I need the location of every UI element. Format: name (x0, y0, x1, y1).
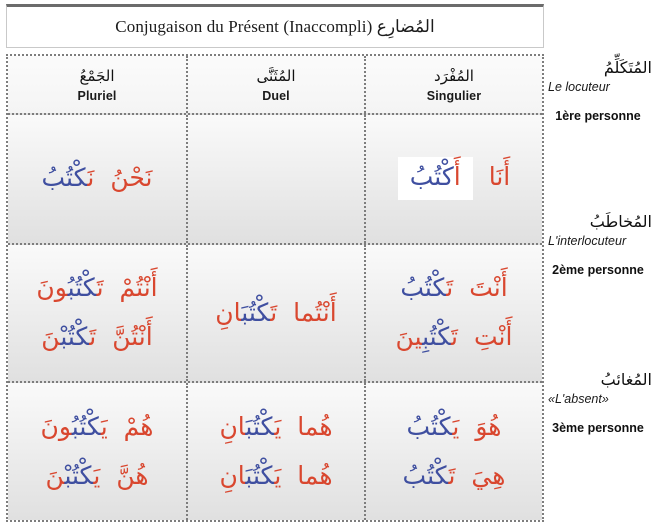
conjugation-line: هُمْيَكْتُبُونَ (41, 408, 154, 447)
person-legend-third: المُغائبُ «L'absent» 3ème personne (548, 370, 652, 435)
conjugation-grid: الجَمْعُ Pluriel المُثَنَّى Duel المُفْر… (6, 54, 544, 522)
pronoun: هِيَ (471, 457, 505, 496)
verb-form: تَكْتُبُ (403, 457, 456, 496)
conjugation-line: أَنَاأَكْتُبُ (398, 157, 510, 200)
verb-prefix: أَ (454, 162, 461, 191)
verb-form: يَكْتُبَانِ (219, 408, 281, 447)
conjugation-line: هُوَيَكْتُبُ (407, 408, 502, 447)
verb-prefix: نَ (87, 163, 94, 192)
title-bar: Conjugaison du Présent (Inaccompli) المُ… (6, 4, 544, 48)
verb-root: كْتُبْ (64, 461, 93, 490)
column-header-arabic: المُفْرَد (434, 66, 474, 86)
verb-root: كْتُبَ (241, 298, 270, 327)
column-header-arabic: المُثَنَّى (257, 66, 296, 86)
column-header-french: Pluriel (78, 89, 117, 103)
person-ordinal: 1ère personne (548, 109, 652, 123)
verb-suffix: ينَ (396, 322, 423, 351)
verb-prefix: يَ (93, 461, 100, 490)
pronoun: أَنْتُما (293, 294, 337, 333)
cell-singular-third-person: هُوَيَكْتُبُهِيَتَكْتُبُ (364, 383, 542, 520)
verb-prefix: يَ (274, 461, 281, 490)
verb-form: يَكْتُبُ (407, 408, 460, 447)
pronoun: أَنْتُنَّ (112, 318, 152, 357)
pronoun: أَنَا (489, 158, 511, 197)
verb-root: كْتُبَ (245, 461, 274, 490)
verb-prefix: تَ (448, 461, 455, 490)
verb-form: تَكْتُبْنَ (41, 318, 96, 357)
verb-suffix: انِ (219, 412, 245, 441)
verb-prefix: تَ (451, 322, 458, 351)
highlighted-verb-box: أَكْتُبُ (398, 157, 473, 200)
verb-prefix: يَ (274, 412, 281, 441)
conjugation-line: أَنْتُنَّتَكْتُبْنَ (41, 318, 152, 357)
verb-root: كْتُبُ (403, 461, 449, 490)
verb-suffix: ونَ (36, 273, 67, 302)
conjugation-line: أَنْتُمْتَكْتُبُونَ (36, 269, 157, 308)
person-ordinal: 2ème personne (548, 263, 652, 277)
person-arabic: المُخاطَبُ (548, 212, 652, 233)
person-french: «L'absent» (548, 392, 652, 408)
person-legend-column: المُتَكَلِّمُ Le locuteur 1ère personne … (548, 54, 652, 522)
conjugation-line: أَنْتَتَكْتُبُ (400, 269, 507, 308)
cell-plural-second-person: أَنْتُمْتَكْتُبُونَأَنْتُنَّتَكْتُبْنَ (8, 245, 186, 382)
person-french: Le locuteur (548, 80, 652, 96)
cell-dual-second-person: أَنْتُماتَكْتُبَانِ (186, 245, 364, 382)
cell-dual-first-person (186, 115, 364, 243)
verb-form: أَكْتُبُ (410, 162, 461, 191)
verb-form: تَكْتُبُونَ (36, 269, 103, 308)
pronoun: أَنْتُمْ (120, 269, 158, 308)
verb-suffix: نَ (41, 322, 60, 351)
conjugation-line: أَنْتُماتَكْتُبَانِ (215, 294, 336, 333)
conjugation-line: أَنْتِتَكْتُبِينَ (396, 318, 513, 357)
verb-suffix: انِ (219, 461, 245, 490)
column-header-french: Duel (262, 89, 290, 103)
verb-root: كْتُبَ (245, 412, 274, 441)
verb-prefix: تَ (270, 298, 277, 327)
verb-form: يَكْتُبَانِ (219, 457, 281, 496)
pronoun: أَنْتِ (474, 318, 512, 357)
conjugation-line: هُنَّيَكْتُبْنَ (45, 457, 148, 496)
verb-root: كْتُبْ (60, 322, 89, 351)
pronoun: هُنَّ (116, 457, 148, 496)
verb-form: تَكْتُبَانِ (215, 294, 277, 333)
conjugation-table-page: Conjugaison du Présent (Inaccompli) المُ… (0, 0, 654, 529)
pronoun: نَحْنُ (110, 159, 152, 198)
verb-root: كْتُبِ (422, 322, 451, 351)
verb-root: كْتُبُ (41, 163, 87, 192)
grid-row-first-person: نَحْنُنَكْتُبُ أَنَاأَكْتُبُ (8, 113, 542, 243)
cell-plural-first-person: نَحْنُنَكْتُبُ (8, 115, 186, 243)
grid-row-third-person: هُمْيَكْتُبُونَهُنَّيَكْتُبْنَ هُمايَكْت… (8, 381, 542, 520)
pronoun: هُما (297, 457, 332, 496)
column-header-singulier: المُفْرَد Singulier (364, 56, 542, 113)
verb-prefix: تَ (97, 273, 104, 302)
column-header-pluriel: الجَمْعُ Pluriel (8, 56, 186, 113)
verb-prefix: يَ (452, 412, 459, 441)
verb-root: كْتُبُ (410, 162, 454, 191)
verb-prefix: تَ (446, 273, 453, 302)
pronoun: أَنْتَ (469, 269, 507, 308)
pronoun: هُمْ (124, 408, 154, 447)
person-legend-first: المُتَكَلِّمُ Le locuteur 1ère personne (548, 58, 652, 123)
person-arabic: المُتَكَلِّمُ (548, 58, 652, 79)
person-ordinal: 3ème personne (548, 421, 652, 435)
verb-root: كْتُبُ (400, 273, 446, 302)
cell-singular-first-person: أَنَاأَكْتُبُ (364, 115, 542, 243)
conjugation-line: هُمايَكْتُبَانِ (219, 408, 332, 447)
verb-root: كْتُبُ (72, 412, 101, 441)
column-header-duel: المُثَنَّى Duel (186, 56, 364, 113)
column-header-arabic: الجَمْعُ (79, 66, 114, 86)
verb-prefix: تَ (89, 322, 96, 351)
verb-form: تَكْتُبُ (400, 269, 453, 308)
cell-singular-second-person: أَنْتَتَكْتُبُأَنْتِتَكْتُبِينَ (364, 245, 542, 382)
verb-form: تَكْتُبِينَ (396, 318, 458, 357)
column-header-french: Singulier (427, 89, 481, 103)
conjugation-line: هُمايَكْتُبَانِ (219, 457, 332, 496)
pronoun: هُما (297, 408, 332, 447)
grid-row-second-person: أَنْتُمْتَكْتُبُونَأَنْتُنَّتَكْتُبْنَ أ… (8, 243, 542, 382)
verb-root: كْتُبُ (68, 273, 97, 302)
verb-root: كْتُبُ (407, 412, 453, 441)
conjugation-line: نَحْنُنَكْتُبُ (41, 159, 152, 198)
verb-suffix: انِ (215, 298, 241, 327)
cell-plural-third-person: هُمْيَكْتُبُونَهُنَّيَكْتُبْنَ (8, 383, 186, 520)
conjugation-line: هِيَتَكْتُبُ (403, 457, 506, 496)
person-arabic: المُغائبُ (548, 370, 652, 391)
pronoun: هُوَ (475, 408, 501, 447)
verb-suffix: ونَ (41, 412, 72, 441)
verb-prefix: يَ (101, 412, 108, 441)
page-title: Conjugaison du Présent (Inaccompli) المُ… (115, 17, 434, 37)
person-legend-second: المُخاطَبُ L'interlocuteur 2ème personne (548, 212, 652, 277)
verb-form: يَكْتُبْنَ (45, 457, 100, 496)
verb-form: يَكْتُبُونَ (41, 408, 108, 447)
grid-header-row: الجَمْعُ Pluriel المُثَنَّى Duel المُفْر… (8, 56, 542, 113)
person-french: L'interlocuteur (548, 234, 652, 250)
cell-dual-third-person: هُمايَكْتُبَانِهُمايَكْتُبَانِ (186, 383, 364, 520)
verb-suffix: نَ (45, 461, 64, 490)
verb-form: نَكْتُبُ (41, 159, 94, 198)
